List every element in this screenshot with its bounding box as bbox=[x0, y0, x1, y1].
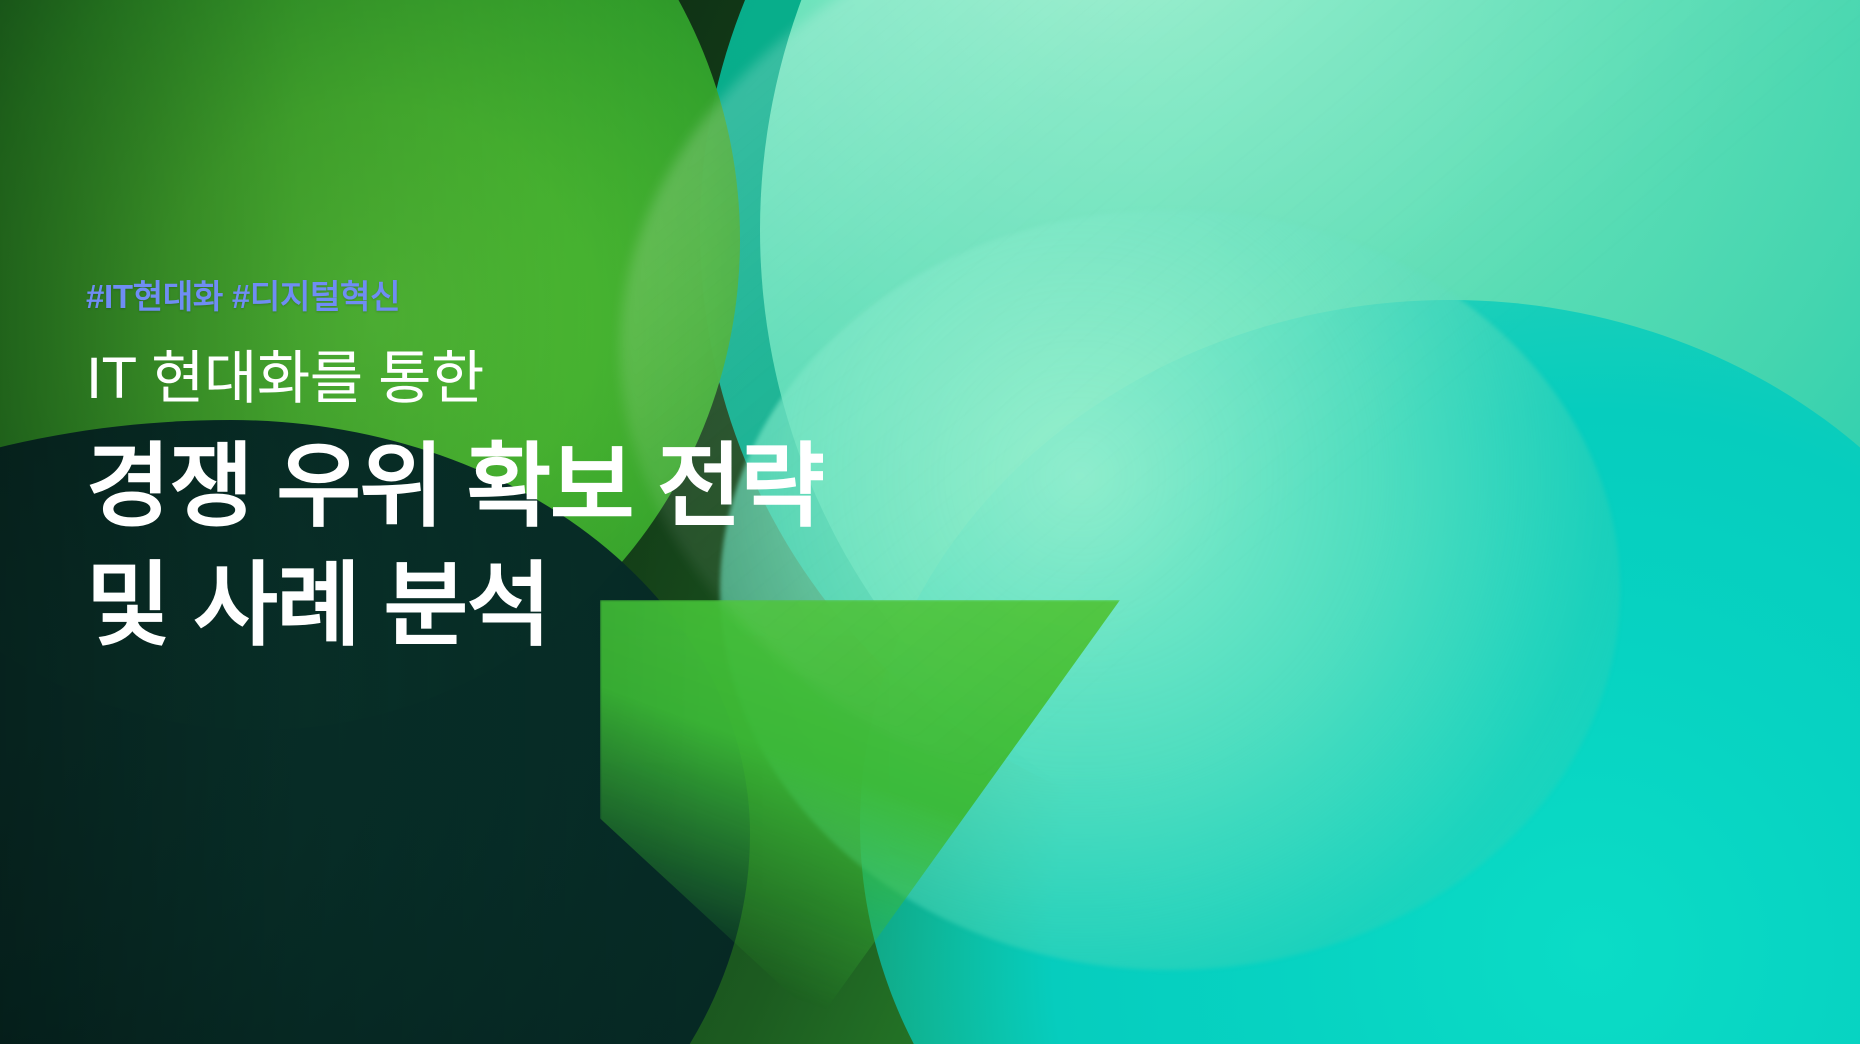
headline-line-1: 경쟁 우위 확보 전략 bbox=[86, 428, 1266, 548]
hero-text-block: #IT현대화 #디지털혁신 IT 현대화를 통한 경쟁 우위 확보 전략 및 사… bbox=[86, 276, 1266, 667]
hashtag-line: #IT현대화 #디지털혁신 bbox=[86, 276, 1266, 317]
title-slide: #IT현대화 #디지털혁신 IT 현대화를 통한 경쟁 우위 확보 전략 및 사… bbox=[0, 0, 1860, 1044]
eyebrow-subtitle: IT 현대화를 통한 bbox=[86, 345, 1266, 413]
page-title: 경쟁 우위 확보 전략 및 사례 분석 bbox=[86, 428, 1266, 667]
headline-line-2: 및 사례 분석 bbox=[86, 547, 1266, 667]
